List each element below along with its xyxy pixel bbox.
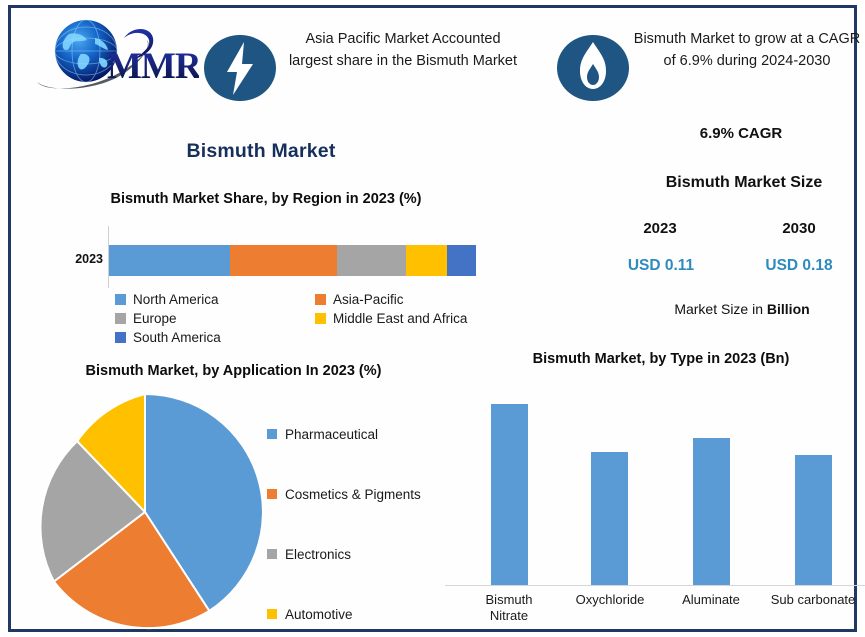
legend-row: South America: [115, 330, 515, 345]
legend-swatch-icon: [267, 549, 277, 559]
type-bar: [591, 452, 628, 586]
legend-label: North America: [133, 292, 219, 307]
type-label-bismuth-nitrate: Bismuth Nitrate: [467, 592, 551, 625]
region-segment-north-america: [109, 245, 230, 276]
market-size-value-end: USD 0.18: [749, 257, 849, 275]
legend-label: Asia-Pacific: [333, 292, 404, 307]
market-size-unit: Market Size in Billion: [623, 301, 861, 317]
legend-label: Cosmetics & Pigments: [285, 487, 421, 502]
legend-label: Pharmaceutical: [285, 427, 378, 442]
region-segment-middle-east-africa: [406, 245, 446, 276]
market-size-heading: Bismuth Market Size: [633, 172, 855, 194]
legend-swatch-icon: [315, 294, 326, 305]
infographic-frame: MMR Asia Pacific Market Accounted larges…: [8, 5, 857, 632]
region-segment-asia-pacific: [230, 245, 336, 276]
region-segment-europe: [337, 245, 407, 276]
header-highlight-left: Asia Pacific Market Accounted largest sh…: [283, 28, 523, 73]
infographic-canvas: MMR Asia Pacific Market Accounted larges…: [0, 0, 865, 637]
region-chart-category-label: 2023: [49, 252, 103, 266]
market-size-value-start: USD 0.11: [611, 257, 711, 275]
legend-item-pharmaceutical: Pharmaceutical: [267, 404, 447, 464]
legend-item-cosmetics-pigments: Cosmetics & Pigments: [267, 464, 447, 524]
legend-row: Europe Middle East and Africa: [115, 311, 515, 326]
application-pie-chart: [25, 392, 265, 632]
region-stacked-bar: [109, 245, 476, 276]
type-label-oxychloride: Oxychloride: [565, 592, 655, 608]
type-bar: [693, 438, 730, 586]
legend-item-middle-east-africa: Middle East and Africa: [315, 311, 515, 326]
market-size-unit-prefix: Market Size in: [674, 301, 767, 317]
market-size-unit-bold: Billion: [767, 301, 810, 317]
type-chart-axis-labels: Bismuth Nitrate Oxychloride Aluminate Su…: [445, 592, 865, 637]
application-chart-title: Bismuth Market, by Application In 2023 (…: [46, 361, 421, 381]
type-column-oxychloride: [569, 394, 649, 586]
legend-label: Electronics: [285, 547, 351, 562]
header-highlight-right: Bismuth Market to grow at a CAGR of 6.9%…: [633, 28, 861, 73]
legend-label: Europe: [133, 311, 177, 326]
legend-label: Middle East and Africa: [333, 311, 467, 326]
mmr-logo: MMR: [29, 16, 199, 94]
type-bar-chart: [445, 394, 865, 586]
type-chart-baseline: [445, 585, 865, 586]
legend-item-south-america: South America: [115, 330, 515, 345]
type-column-sub-carbonate: [773, 394, 853, 586]
legend-item-asia-pacific: Asia-Pacific: [315, 292, 515, 307]
type-bar: [491, 404, 528, 586]
cagr-label: 6.9% CAGR: [621, 125, 861, 142]
legend-label: South America: [133, 330, 221, 345]
legend-label: Automotive: [285, 607, 353, 622]
type-label-aluminate: Aluminate: [671, 592, 751, 608]
svg-text:MMR: MMR: [107, 46, 199, 87]
legend-swatch-icon: [267, 489, 277, 499]
legend-swatch-icon: [115, 313, 126, 324]
type-chart-title: Bismuth Market, by Type in 2023 (Bn): [466, 351, 856, 367]
legend-swatch-icon: [115, 294, 126, 305]
region-chart-legend: North America Asia-Pacific Europe Middle…: [115, 292, 515, 349]
type-label-sub-carbonate: Sub carbonate: [760, 592, 865, 608]
legend-item-electronics: Electronics: [267, 524, 447, 584]
legend-swatch-icon: [315, 313, 326, 324]
type-bar: [795, 455, 832, 586]
market-size-year-start: 2023: [615, 220, 705, 237]
legend-swatch-icon: [267, 429, 277, 439]
type-column-bismuth-nitrate: [469, 394, 549, 586]
type-column-aluminate: [671, 394, 751, 586]
application-chart-legend: Pharmaceutical Cosmetics & Pigments Elec…: [267, 404, 447, 637]
legend-row: North America Asia-Pacific: [115, 292, 515, 307]
page-title: Bismuth Market: [66, 140, 456, 163]
legend-item-north-america: North America: [115, 292, 315, 307]
legend-item-automotive: Automotive: [267, 584, 447, 637]
legend-swatch-icon: [267, 609, 277, 619]
lightning-bolt-icon: [203, 30, 277, 106]
region-chart-title: Bismuth Market Share, by Region in 2023 …: [56, 191, 476, 207]
legend-item-europe: Europe: [115, 311, 315, 326]
flame-icon: [556, 30, 630, 106]
market-size-year-end: 2030: [754, 220, 844, 237]
region-segment-south-america: [447, 245, 476, 276]
legend-swatch-icon: [115, 332, 126, 343]
